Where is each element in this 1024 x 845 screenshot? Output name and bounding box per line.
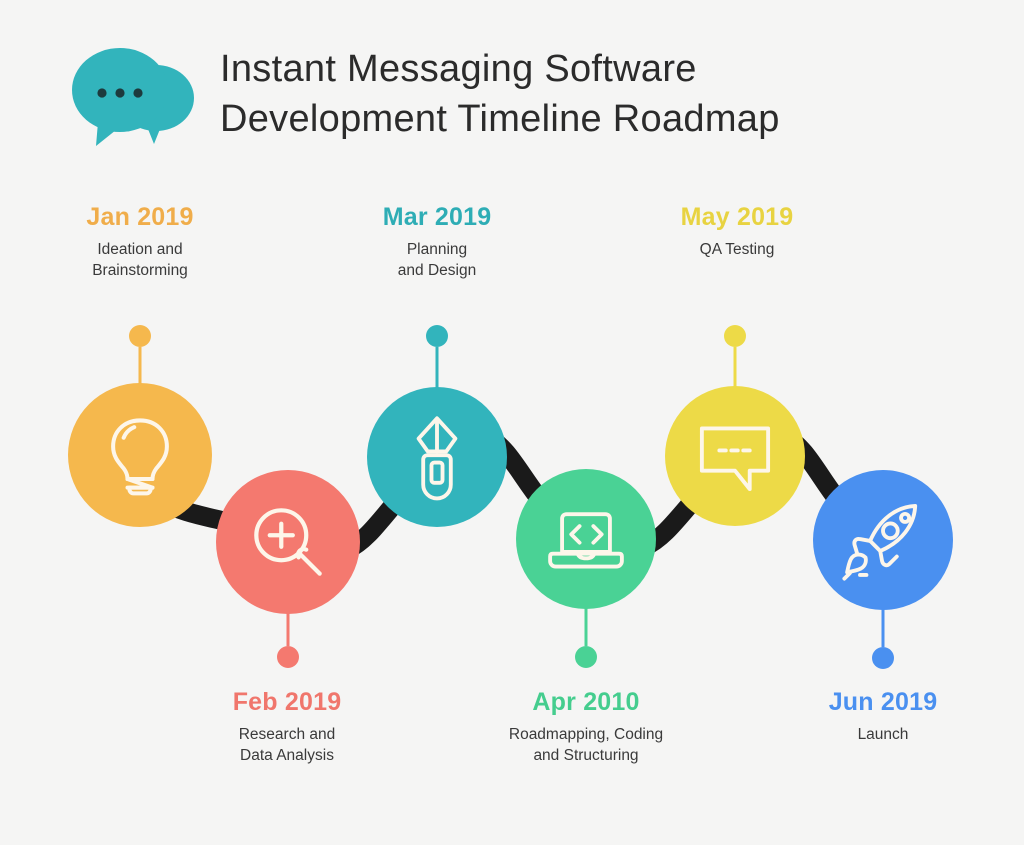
header: Instant Messaging Software Development T… xyxy=(0,0,1024,175)
milestone-node-feb[interactable] xyxy=(216,470,360,614)
milestone-node-jan[interactable] xyxy=(68,383,212,527)
stem-dot-may xyxy=(724,325,746,347)
timeline: Jan 2019 Ideation and Brainstorming Feb … xyxy=(0,175,1024,845)
infographic-root: Instant Messaging Software Development T… xyxy=(0,0,1024,845)
stem-dot-apr xyxy=(575,646,597,668)
page-title: Instant Messaging Software Development T… xyxy=(220,44,980,144)
milestone-nodes xyxy=(68,383,953,614)
timeline-canvas xyxy=(0,175,1024,845)
stem-dot-mar xyxy=(426,325,448,347)
milestone-node-jun[interactable] xyxy=(813,470,953,610)
stem-dot-feb xyxy=(277,646,299,668)
chat-bubbles-icon xyxy=(64,40,204,150)
stem-dot-jun xyxy=(872,647,894,669)
milestone-node-may[interactable] xyxy=(665,386,805,526)
chat-bubbles-svg xyxy=(64,40,204,150)
milestone-node-mar[interactable] xyxy=(367,387,507,527)
milestone-node-apr[interactable] xyxy=(516,469,656,609)
stem-dot-jan xyxy=(129,325,151,347)
